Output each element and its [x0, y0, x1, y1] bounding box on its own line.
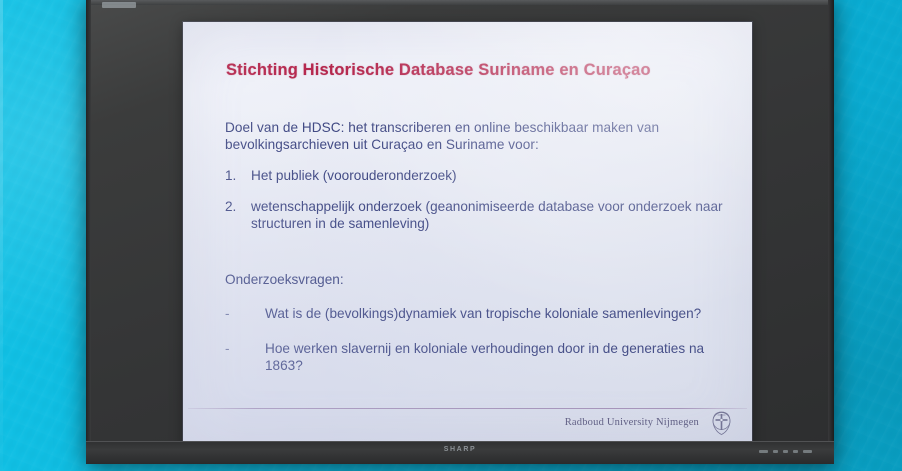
section-heading-research-questions: Onderzoeksvragen: [225, 271, 344, 288]
dash-marker: - [225, 305, 265, 322]
list-marker: 1. [225, 167, 251, 184]
list-item-text: Wat is de (bevolkings)dynamiek van tropi… [265, 305, 725, 322]
wall-mounted-display: Stichting Historische Database Suriname … [86, 0, 834, 464]
menu-button-icon[interactable] [773, 450, 778, 453]
wall-panel-seam [0, 0, 3, 471]
monitor-brand-logo: SHARP [444, 446, 477, 453]
list-item: - Wat is de (bevolkings)dynamiek van tro… [225, 305, 725, 322]
volume-up-button-icon[interactable] [803, 450, 812, 453]
dash-marker: - [225, 340, 265, 374]
bezel-bottom: SHARP [86, 441, 834, 464]
slide-footer: Radboud University Nijmegen [565, 408, 734, 437]
list-item: 1. Het publiek (voorouderonderzoek) [225, 167, 725, 184]
list-item: - Hoe werken slavernij en koloniale verh… [225, 340, 725, 374]
bezel-sticker [102, 2, 136, 8]
slide-title: Stichting Historische Database Suriname … [226, 61, 726, 80]
monitor-control-buttons[interactable] [759, 450, 812, 453]
footer-organisation-label: Radboud University Nijmegen [565, 417, 699, 428]
input-button-icon[interactable] [783, 450, 788, 453]
list-item-text: Hoe werken slavernij en koloniale verhou… [265, 340, 725, 374]
power-button-icon[interactable] [759, 450, 768, 453]
bezel-right-edge [828, 0, 834, 464]
bezel-left-edge [86, 0, 91, 464]
list-item-text: Het publiek (voorouderonderzoek) [251, 167, 725, 184]
presentation-room-scene: Stichting Historische Database Suriname … [0, 0, 902, 471]
list-item-text: wetenschappelijk onderzoek (geanonimisee… [251, 198, 725, 232]
slide-content: Stichting Historische Database Suriname … [183, 22, 752, 449]
bezel-top-edge [86, 0, 834, 5]
slide-lead-paragraph: Doel van de HDSC: het transcriberen en o… [225, 119, 725, 153]
presentation-slide[interactable]: Stichting Historische Database Suriname … [183, 22, 752, 449]
list-item: 2. wetenschappelijk onderzoek (geanonimi… [225, 198, 725, 232]
numbered-list: 1. Het publiek (voorouderonderzoek) 2. w… [225, 167, 725, 246]
dash-bullet-list: - Wat is de (bevolkings)dynamiek van tro… [225, 305, 725, 392]
volume-down-button-icon[interactable] [793, 450, 798, 453]
list-marker: 2. [225, 198, 251, 232]
radboud-crest-icon [709, 408, 734, 437]
